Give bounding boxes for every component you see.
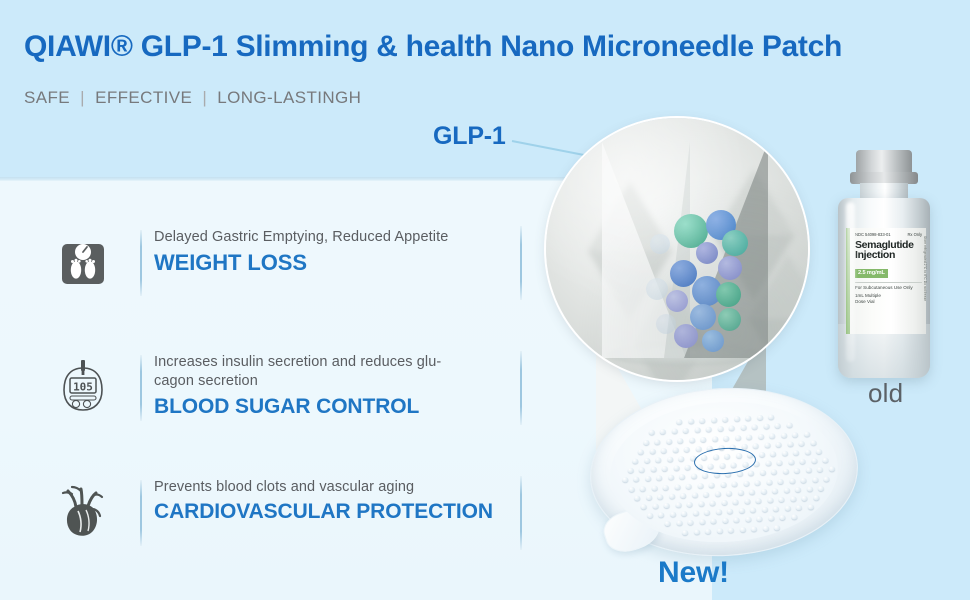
feature-divider-right <box>520 351 522 425</box>
tagline-effective: EFFECTIVE <box>95 88 192 107</box>
feature-description: Prevents blood clots and vascular aging <box>154 478 514 497</box>
feature-text-block: Prevents blood clots and vascular aging … <box>154 478 514 524</box>
feature-weight-loss: Delayed Gastric Emptying, Reduced Appeti… <box>52 222 532 347</box>
weight-scale-icon <box>52 232 114 294</box>
feature-description: Delayed Gastric Emptying, Reduced Appeti… <box>154 228 514 247</box>
product-banner: QIAWI® GLP-1 Slimming & health Nano Micr… <box>0 0 970 600</box>
vial-route: For Subcutaneous Use Only <box>855 282 922 290</box>
glucose-meter-icon: 105 <box>52 357 114 419</box>
vial-highlight <box>846 202 855 362</box>
tagline-long-lasting: LONG-LASTINGH <box>217 88 361 107</box>
feature-text-block: Delayed Gastric Emptying, Reduced Appeti… <box>154 228 514 276</box>
subtitle-taglines: SAFE | EFFECTIVE | LONG-LASTINGH <box>24 88 361 108</box>
vial-rx-only: Rx Only <box>907 232 922 237</box>
old-product-label: old <box>868 378 903 409</box>
semaglutide-vial: NDC 54098-833-01 Rx Only Semaglutide Inj… <box>832 150 936 382</box>
heart-icon <box>52 482 114 544</box>
feature-divider-left <box>140 480 142 546</box>
feature-description-line2: cagon secretion <box>154 372 514 391</box>
feature-heading: BLOOD SUGAR CONTROL <box>154 395 514 419</box>
title-rest: GLP-1 Slimming & health Nano Microneedle… <box>141 30 842 63</box>
tagline-separator-1: | <box>75 88 90 107</box>
feature-text-block: Increases insulin secretion and reduces … <box>154 353 514 419</box>
feature-heading: CARDIOVASCULAR PROTECTION <box>154 500 514 524</box>
feature-description-line1: Increases insulin secretion and reduces … <box>154 353 514 372</box>
svg-text:105: 105 <box>73 380 93 393</box>
tagline-safe: SAFE <box>24 88 70 107</box>
feature-divider-left <box>140 230 142 296</box>
brand-name: QIAWI® <box>24 30 133 63</box>
new-product-label: New! <box>658 556 729 590</box>
microneedle-magnifier <box>546 118 808 380</box>
glp1-callout-label: GLP-1 <box>433 122 506 151</box>
vial-dose-badge: 2.5 mg/mL <box>855 269 888 278</box>
vial-ndc-row: NDC 54098-833-01 Rx Only <box>855 232 922 237</box>
vial-drug-name: Semaglutide Injection <box>855 240 922 262</box>
vial-volume-line2: Dose Vial <box>855 299 922 305</box>
feature-divider-left <box>140 355 142 421</box>
feature-list: Delayed Gastric Emptying, Reduced Appeti… <box>52 222 532 597</box>
vial-ndc: NDC 54098-833-01 <box>855 232 891 237</box>
vial-drug-name-line2: Injection <box>855 250 922 261</box>
feature-divider-right <box>520 226 522 300</box>
microneedle-patch <box>590 388 858 564</box>
feature-blood-sugar: 105 Increases insulin secretion and redu… <box>52 347 532 472</box>
page-title: QIAWI® GLP-1 Slimming & health Nano Micr… <box>24 30 954 64</box>
feature-cardiovascular: Prevents blood clots and vascular aging … <box>52 472 532 597</box>
vial-storage-text: Store refrigerated 2°C to 8°C Do not fre… <box>923 236 927 301</box>
vial-label: NDC 54098-833-01 Rx Only Semaglutide Inj… <box>846 228 926 334</box>
tagline-separator-2: | <box>197 88 212 107</box>
feature-divider-right <box>520 476 522 550</box>
vial-volume: 1mL Multiple Dose Vial <box>855 293 922 305</box>
feature-heading: WEIGHT LOSS <box>154 250 514 276</box>
